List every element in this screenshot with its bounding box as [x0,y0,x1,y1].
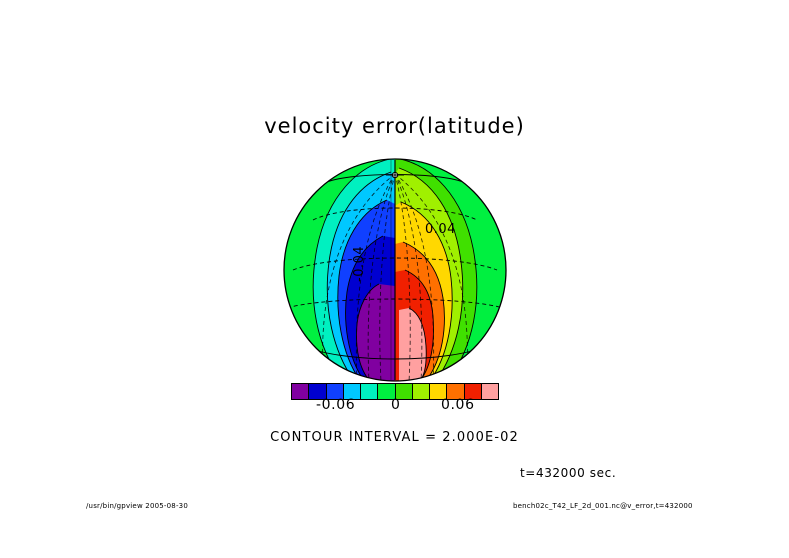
footer-command-date: /usr/bin/gpview 2005-08-30 [86,502,188,510]
time-stamp: t=432000 sec. [520,466,616,480]
footer-datafile: bench02c_T42_LF_2d_001.nc@v_error,t=4320… [513,502,693,510]
contour-label-negative: -0.04 [352,246,367,282]
colorbar-tick-label: 0 [391,397,401,413]
plot-canvas: velocity error(latitude) [0,0,789,558]
page-title: velocity error(latitude) [0,114,789,138]
colorbar-swatch-11 [482,384,498,399]
colorbar-swatch-4 [361,384,378,399]
colorbar-swatch-7 [413,384,430,399]
contour-interval-text: CONTOUR INTERVAL = 2.000E-02 [0,430,789,445]
colorbar-swatch-0 [292,384,309,399]
colorbar-tick-label: 0.06 [441,397,475,413]
globe-plot [283,158,507,382]
orthographic-projection-svg [283,158,507,382]
colorbar-tick-label: -0.06 [316,397,355,413]
contour-label-positive: 0.04 [425,222,456,237]
